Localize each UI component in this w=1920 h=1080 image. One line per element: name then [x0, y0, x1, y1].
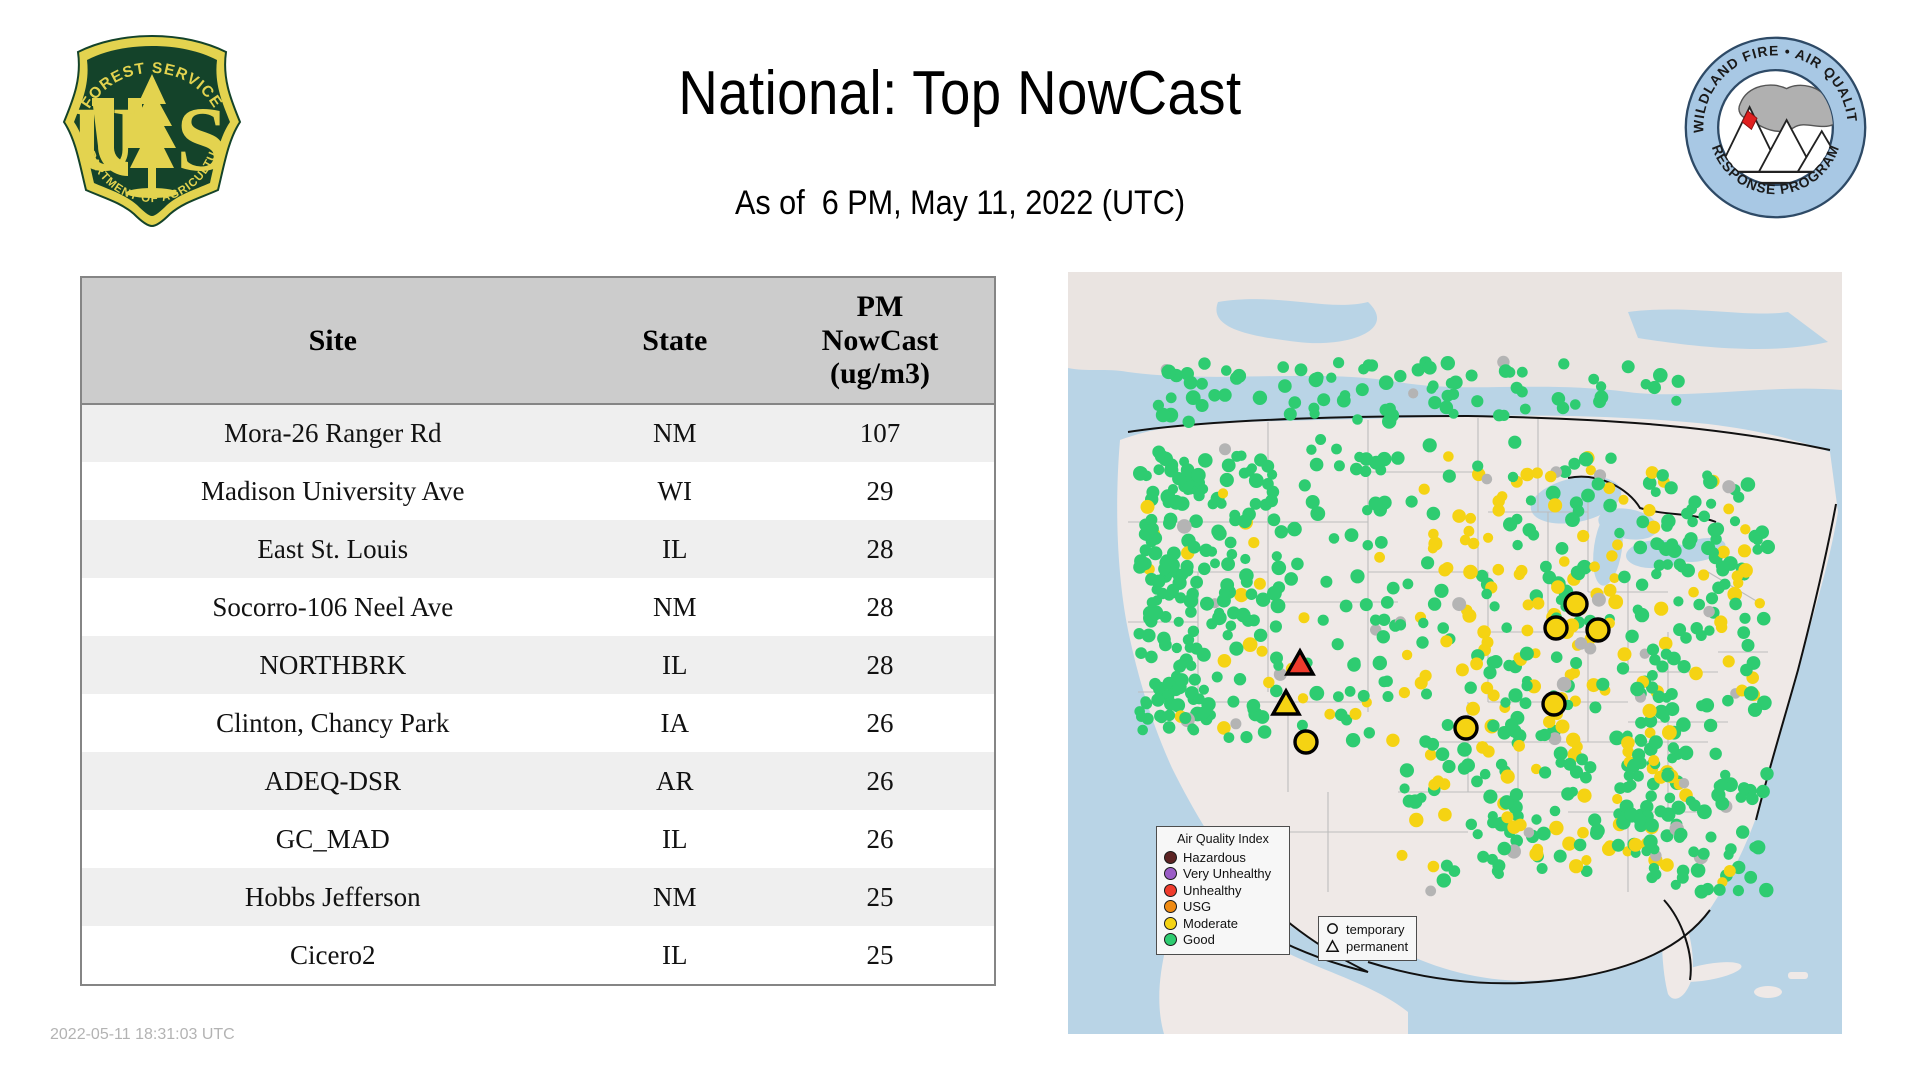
monitor-dot: [1548, 498, 1562, 512]
table-row: Cicero2IL25: [82, 926, 994, 984]
monitor-dot: [1689, 799, 1701, 811]
monitor-dot: [1695, 885, 1709, 899]
monitor-dot: [1520, 404, 1531, 415]
monitor-dot: [1158, 452, 1173, 467]
monitor-dot: [1511, 382, 1523, 394]
monitor-dot: [1145, 573, 1158, 586]
monitor-dot: [1441, 356, 1455, 370]
monitor-dot: [1235, 371, 1245, 381]
monitor-dot: [1498, 726, 1512, 740]
monitor-dot: [1133, 466, 1148, 481]
monitor-dot: [1154, 464, 1165, 475]
monitor-dot: [1643, 834, 1657, 848]
monitor-dot: [1566, 733, 1580, 747]
monitor-dot: [1722, 695, 1734, 707]
aqi-legend-row: Good: [1164, 932, 1282, 949]
monitor-dot: [1688, 846, 1699, 857]
aqi-legend-row: Moderate: [1164, 915, 1282, 932]
monitor-dot: [1468, 538, 1479, 549]
monitor-dot: [1706, 499, 1716, 509]
monitor-dot: [1556, 720, 1570, 734]
monitor-dot: [1711, 788, 1725, 802]
monitor-dot: [1134, 554, 1148, 568]
monitor-dot: [1604, 584, 1617, 597]
monitor-dot: [1208, 389, 1221, 402]
highlight-marker-clinton-ia[interactable]: [1543, 693, 1565, 715]
aqi-legend-label: Hazardous: [1183, 851, 1246, 864]
monitor-dot: [1463, 565, 1478, 580]
monitor-dot: [1654, 539, 1665, 550]
monitor-dot: [1189, 674, 1201, 686]
monitor-dot: [1722, 480, 1735, 493]
monitor-dot: [1352, 414, 1363, 425]
monitor-dot: [1687, 517, 1698, 528]
monitor-dot: [1421, 689, 1432, 700]
monitor-dot: [1740, 664, 1753, 677]
monitor-dot: [1466, 819, 1477, 830]
monitor-dot: [1212, 672, 1223, 683]
pm-cell: 28: [766, 636, 994, 694]
monitor-dot: [1216, 499, 1226, 509]
monitor-dot: [1635, 734, 1647, 746]
monitor-dot: [1363, 540, 1374, 551]
monitor-dot: [1557, 402, 1569, 414]
monitor-dot: [1408, 794, 1422, 808]
monitor-dot: [1679, 778, 1689, 788]
monitor-dot: [1481, 682, 1493, 694]
monitor-dot: [1315, 434, 1326, 445]
aqi-legend: Air Quality Index HazardousVery Unhealth…: [1156, 826, 1290, 955]
monitor-dot: [1224, 732, 1235, 743]
monitor-dot: [1708, 547, 1719, 558]
monitor-dot: [1483, 533, 1493, 543]
monitor-dot: [1391, 451, 1404, 464]
state-cell: AR: [584, 752, 766, 810]
monitor-dot: [1522, 625, 1534, 637]
monitor-dot: [1428, 380, 1439, 391]
monitor-dot: [1275, 525, 1288, 538]
monitor-dot: [1423, 438, 1437, 452]
pm-cell: 28: [766, 578, 994, 636]
aqi-legend-row: Unhealthy: [1164, 882, 1282, 899]
monitor-dot: [1650, 869, 1661, 880]
monitor-dot: [1158, 563, 1171, 576]
highlight-marker-hobbs-nm[interactable]: [1295, 731, 1317, 753]
monitor-dot: [1577, 827, 1589, 839]
monitor-dot: [1653, 368, 1668, 383]
monitor-dot: [1295, 363, 1308, 376]
monitor-dot: [1493, 504, 1505, 516]
monitor-dot: [1379, 375, 1394, 390]
monitor-dot: [1363, 359, 1375, 371]
monitor-dot: [1441, 562, 1453, 574]
monitor-dot: [1755, 598, 1765, 608]
monitor-dot: [1137, 725, 1148, 736]
state-cell: NM: [584, 868, 766, 926]
monitor-dot: [1684, 532, 1697, 545]
monitor-dot: [1592, 593, 1606, 607]
monitor-dot: [1163, 517, 1176, 530]
monitor-dot: [1618, 571, 1631, 584]
monitor-dot: [1634, 541, 1648, 555]
monitor-dot: [1649, 654, 1660, 665]
table-row: East St. LouisIL28: [82, 520, 994, 578]
monitor-dot: [1526, 495, 1536, 505]
monitor-dot: [1418, 618, 1428, 628]
monitor-dot: [1723, 655, 1735, 667]
monitor-dot: [1428, 597, 1441, 610]
monitor-dot: [1698, 848, 1710, 860]
monitor-dot: [1426, 738, 1439, 751]
monitor-dot: [1751, 840, 1765, 854]
monitor-dot: [1702, 470, 1712, 480]
monitor-dot: [1379, 676, 1390, 687]
monitor-dot: [1714, 884, 1726, 896]
monitor-dot: [1171, 698, 1185, 712]
site-cell: Mora-26 Ranger Rd: [82, 404, 584, 462]
monitor-dot: [1136, 711, 1147, 722]
state-cell: NM: [584, 578, 766, 636]
monitor-dot: [1733, 885, 1744, 896]
monitor-dot: [1402, 650, 1412, 660]
monitor-dot: [1452, 509, 1466, 523]
monitor-dot: [1419, 484, 1430, 495]
monitor-dot: [1360, 598, 1373, 611]
monitor-dot: [1724, 850, 1734, 860]
monitor-dot: [1320, 576, 1332, 588]
monitor-dot: [1609, 573, 1619, 583]
monitor-dot: [1581, 855, 1591, 865]
monitor-dot: [1557, 677, 1572, 692]
monitor-dot: [1306, 445, 1316, 455]
monitor-dot: [1191, 468, 1206, 483]
monitor-dot: [1147, 597, 1158, 608]
monitor-dot: [1539, 729, 1551, 741]
monitor-dot: [1163, 497, 1174, 508]
site-cell: Hobbs Jefferson: [82, 868, 584, 926]
monitor-dot: [1177, 519, 1192, 534]
monitor-dot: [1589, 701, 1601, 713]
monitor-dot: [1149, 678, 1161, 690]
monitor-dot: [1145, 651, 1158, 664]
highlight-marker-east-st-louis-il[interactable]: [1455, 717, 1477, 739]
monitor-dot: [1157, 632, 1170, 645]
monitor-dot: [1179, 712, 1191, 724]
monitor-dot: [1197, 648, 1211, 662]
monitor-dot: [1711, 522, 1724, 535]
monitor-dot: [1287, 522, 1302, 537]
page-subtitle: As of 6 PM, May 11, 2022 (UTC): [96, 184, 1824, 223]
monitor-dot: [1617, 662, 1629, 674]
monitor-dot: [1753, 535, 1763, 545]
state-cell: IL: [584, 810, 766, 868]
monitor-dot: [1500, 795, 1514, 809]
monitor-dot: [1306, 495, 1320, 509]
monitor-dot: [1310, 458, 1324, 472]
monitor-dot: [1218, 654, 1232, 668]
monitor-dot: [1606, 550, 1617, 561]
monitor-dot: [1278, 379, 1292, 393]
monitor-dot: [1742, 639, 1755, 652]
pm-header-line3: (ug/m3): [830, 357, 930, 390]
monitor-dot: [1207, 547, 1217, 557]
monitor-dot: [1223, 630, 1233, 640]
monitor-dot: [1570, 399, 1581, 410]
monitor-dot: [1335, 709, 1348, 722]
monitor-dot: [1643, 704, 1657, 718]
monitor-dot: [1268, 513, 1281, 526]
monitor-dot: [1256, 593, 1270, 607]
monitor-dot: [1262, 478, 1274, 490]
highlight-marker-madison-wi[interactable]: [1565, 593, 1587, 615]
monitor-dot: [1647, 670, 1658, 681]
monitor-dot: [1436, 747, 1450, 761]
monitor-dot: [1714, 615, 1727, 628]
monitor-dot: [1423, 361, 1437, 375]
monitor-dot: [1253, 391, 1267, 405]
monitor-dot: [1440, 401, 1454, 415]
monitor-dot: [1592, 478, 1605, 491]
monitor-dot: [1516, 565, 1528, 577]
site-cell: GC_MAD: [82, 810, 584, 868]
monitor-dot: [1574, 839, 1587, 852]
monitor-dot: [1612, 539, 1623, 550]
monitor-dot: [1569, 859, 1583, 873]
monitor-dot: [1384, 403, 1396, 415]
table-row: NORTHBRKIL28: [82, 636, 994, 694]
site-cell: Madison University Ave: [82, 462, 584, 520]
monitor-dot: [1719, 579, 1730, 590]
circle-icon: [1325, 922, 1340, 937]
monitor-dot: [1326, 373, 1336, 383]
monitor-dot: [1403, 579, 1414, 590]
monitor-dot: [1520, 647, 1534, 661]
highlight-marker-northbrk-il[interactable]: [1545, 617, 1567, 639]
monitor-dot: [1395, 619, 1406, 630]
monitor-dot: [1239, 568, 1254, 583]
monitor-dot: [1182, 565, 1194, 577]
table-row: Socorro-106 Neel AveNM28: [82, 578, 994, 636]
monitor-dot: [1243, 637, 1258, 652]
monitor-dot: [1550, 806, 1561, 817]
monitor-dot: [1651, 487, 1661, 497]
site-cell: Socorro-106 Neel Ave: [82, 578, 584, 636]
monitor-dot: [1483, 790, 1497, 804]
monitor-dot: [1442, 719, 1454, 731]
state-cell: NM: [584, 404, 766, 462]
legend-permanent-label: permanent: [1346, 939, 1408, 954]
monitor-dot: [1443, 451, 1454, 462]
monitor-dot: [1289, 396, 1302, 409]
monitor-dot: [1142, 629, 1156, 643]
monitor-dot: [1394, 370, 1406, 382]
monitor-dot: [1308, 403, 1319, 414]
monitor-dot: [1672, 375, 1685, 388]
monitor-dot: [1575, 637, 1588, 650]
pm-cell: 29: [766, 462, 994, 520]
monitor-dot: [1487, 817, 1498, 828]
monitor-dot: [1229, 642, 1243, 656]
aqi-legend-row: Very Unhealthy: [1164, 866, 1282, 883]
monitor-dot: [1630, 682, 1644, 696]
monitor-dot: [1698, 511, 1710, 523]
monitor-dot: [1175, 673, 1189, 687]
monitor-dot: [1540, 561, 1552, 573]
monitor-dot: [1415, 677, 1428, 690]
aqi-legend-row: USG: [1164, 899, 1282, 916]
monitor-dot: [1211, 525, 1225, 539]
monitor-dot: [1671, 396, 1681, 406]
monitor-dot: [1740, 524, 1750, 534]
monitor-dot: [1724, 865, 1736, 877]
monitor-dot: [1737, 626, 1750, 639]
aqi-color-swatch-icon: [1164, 933, 1177, 946]
monitor-dot: [1643, 504, 1655, 516]
monitor-dot: [1531, 814, 1541, 824]
monitor-dot: [1428, 861, 1440, 873]
monitor-dot: [1654, 560, 1665, 571]
monitor-dot: [1559, 556, 1570, 567]
monitor-dot: [1333, 691, 1344, 702]
monitor-dot: [1331, 444, 1342, 455]
monitor-dot: [1490, 601, 1500, 611]
monitor-dot: [1554, 850, 1567, 863]
monitor-dot: [1556, 542, 1569, 555]
monitor-dot: [1140, 696, 1151, 707]
site-cell: ADEQ-DSR: [82, 752, 584, 810]
monitor-dot: [1140, 544, 1152, 556]
monitor-dot: [1649, 735, 1663, 749]
monitor-dot: [1508, 472, 1518, 482]
table-row: Clinton, Chancy ParkIA26: [82, 694, 994, 752]
monitor-dot: [1187, 723, 1197, 733]
monitor-dot: [1461, 758, 1475, 772]
monitor-dot: [1549, 821, 1563, 835]
monitor-dot: [1177, 659, 1187, 669]
monitor-dot: [1661, 769, 1674, 782]
aqi-legend-title: Air Quality Index: [1164, 832, 1282, 846]
monitor-dot: [1691, 863, 1706, 878]
monitor-dot: [1614, 782, 1626, 794]
monitor-dot: [1676, 717, 1691, 732]
monitor-dot: [1693, 599, 1705, 611]
monitor-dot: [1512, 540, 1522, 550]
monitor-dot: [1246, 588, 1258, 600]
monitor-dot: [1175, 592, 1186, 603]
monitor-dot: [1759, 883, 1773, 897]
monitor-dot: [1739, 613, 1750, 624]
monitor-dot: [1345, 528, 1359, 542]
monitor-dot: [1225, 537, 1237, 549]
monitor-dot: [1220, 473, 1234, 487]
monitor-dot: [1501, 622, 1512, 633]
highlight-marker-cicero2-il[interactable]: [1587, 619, 1609, 641]
monitor-dot: [1499, 364, 1513, 378]
monitor-dot: [1748, 703, 1762, 717]
monitor-dot: [1579, 452, 1593, 466]
monitor-dot: [1551, 580, 1565, 594]
monitor-dot: [1662, 725, 1677, 740]
monitor-dot: [1746, 793, 1759, 806]
monitor-dot: [1334, 460, 1345, 471]
monitor-dot: [1434, 584, 1448, 598]
monitor-dot: [1416, 636, 1428, 648]
site-cell: East St. Louis: [82, 520, 584, 578]
monitor-dot: [1501, 811, 1513, 823]
state-cell: IL: [584, 520, 766, 578]
column-header-pm-nowcast: PM NowCast (ug/m3): [766, 278, 994, 404]
monitor-dot: [1738, 782, 1750, 794]
state-cell: IL: [584, 636, 766, 694]
table-row: ADEQ-DSRAR26: [82, 752, 994, 810]
monitor-dot: [1668, 742, 1679, 753]
monitor-dot: [1333, 357, 1344, 368]
column-header-site: Site: [82, 278, 584, 404]
monitor-dot: [1432, 775, 1444, 787]
monitor-dot: [1421, 556, 1434, 569]
monitor-dot: [1324, 709, 1335, 720]
monitor-dot: [1151, 693, 1164, 706]
monitor-dot: [1603, 499, 1617, 513]
state-cell: WI: [584, 462, 766, 520]
monitor-dot: [1503, 517, 1517, 531]
monitor-dot: [1756, 785, 1770, 799]
monitor-dot: [1517, 367, 1528, 378]
monitor-dot: [1428, 529, 1439, 540]
monitor-dot: [1437, 622, 1449, 634]
monitor-dot: [1226, 621, 1237, 632]
monitor-dot: [1689, 667, 1703, 681]
monitor-dot: [1248, 537, 1259, 548]
monitor-dot: [1563, 758, 1576, 771]
monitor-dot: [1696, 630, 1707, 641]
monitor-dot: [1497, 491, 1507, 501]
monitor-dot: [1665, 481, 1678, 494]
monitor-dot: [1589, 561, 1600, 572]
monitor-dot: [1704, 719, 1717, 732]
monitor-dot: [1382, 414, 1396, 428]
legend-permanent: permanent: [1325, 938, 1408, 955]
monitor-dot: [1741, 568, 1751, 578]
monitor-dot: [1298, 693, 1308, 703]
aqi-color-swatch-icon: [1164, 851, 1177, 864]
top-nowcast-table: Site State PM NowCast (ug/m3) Mora-26 Ra…: [80, 276, 996, 986]
monitor-dot: [1462, 609, 1476, 623]
monitor-dot: [1185, 643, 1195, 653]
aqi-legend-label: Good: [1183, 933, 1215, 946]
monitor-dot: [1618, 647, 1632, 661]
monitor-dot: [1523, 599, 1534, 610]
monitor-dot: [1299, 612, 1310, 623]
monitor-dot: [1674, 828, 1687, 841]
monitor-dot: [1621, 736, 1635, 750]
monitor-dot: [1356, 383, 1369, 396]
monitor-dot: [1240, 554, 1250, 564]
monitor-dot: [1166, 392, 1177, 403]
monitor-dot: [1543, 716, 1555, 728]
monitor-dot: [1493, 564, 1505, 576]
monitor-dot: [1513, 740, 1525, 752]
monitor-dot: [1219, 587, 1230, 598]
monitor-dot: [1678, 660, 1691, 673]
monitor-dot: [1374, 552, 1385, 563]
monitor-dot: [1381, 596, 1394, 609]
monitor-dot: [1161, 365, 1176, 380]
aqi-legend-row: Hazardous: [1164, 849, 1282, 866]
monitor-dot: [1466, 702, 1480, 716]
monitor-dot: [1346, 733, 1360, 747]
monitor-dot: [1710, 748, 1722, 760]
